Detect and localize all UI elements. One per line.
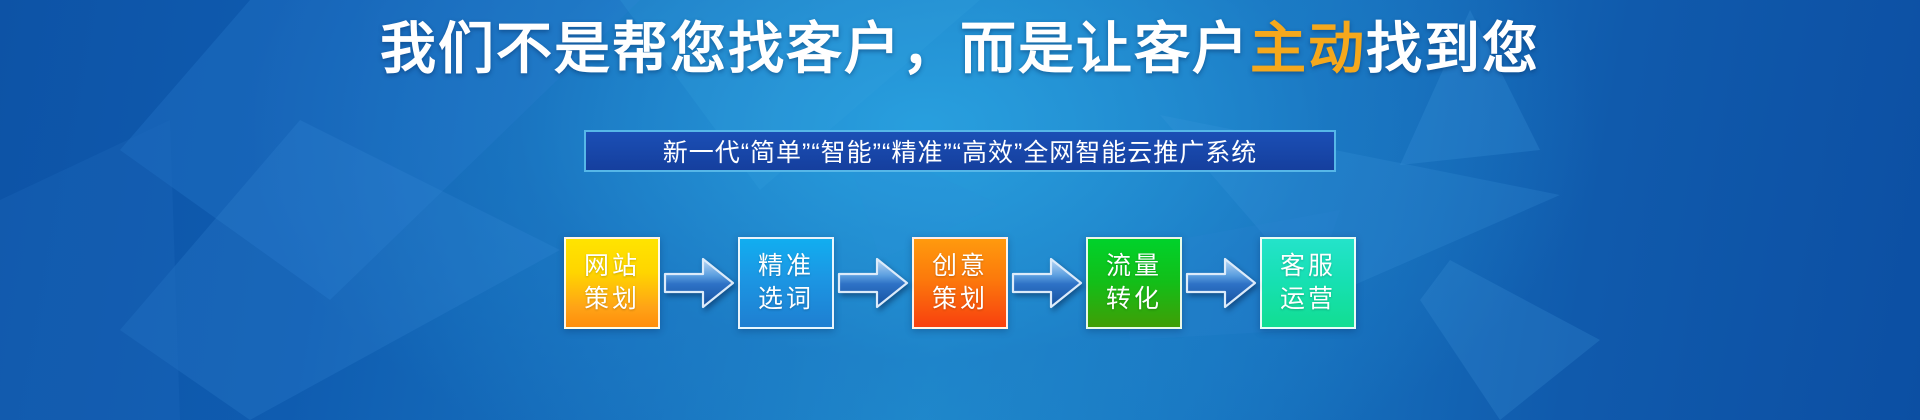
polygon-shape <box>1420 260 1600 420</box>
right-arrow-icon <box>1182 237 1260 329</box>
headline-part-before: 我们不是帮您找客户，而是让客户 <box>380 17 1250 80</box>
headline-highlight: 主动 <box>1250 17 1366 80</box>
flow-step-label-line1: 网站 <box>584 250 640 283</box>
flow-step-customer-service-operation[interactable]: 客服 运营 <box>1260 237 1356 329</box>
flow-step-label-line2: 策划 <box>932 283 988 316</box>
process-flow: 网站 策划 精准 选词 <box>564 228 1356 338</box>
right-arrow-icon <box>834 237 912 329</box>
flow-step-label-line1: 创意 <box>932 250 988 283</box>
flow-step-traffic-conversion[interactable]: 流量 转化 <box>1086 237 1182 329</box>
flow-step-label-line2: 选词 <box>758 283 814 316</box>
headline-part-after: 找到您 <box>1366 17 1540 80</box>
page-title: 我们不是帮您找客户，而是让客户主动找到您 <box>0 18 1920 81</box>
flow-step-label-line1: 客服 <box>1280 250 1336 283</box>
flow-step-label-line2: 转化 <box>1106 283 1162 316</box>
flow-step-creative-planning[interactable]: 创意 策划 <box>912 237 1008 329</box>
polygon-shape <box>120 120 560 420</box>
flow-step-label-line1: 精准 <box>758 250 814 283</box>
flow-step-label-line2: 策划 <box>584 283 640 316</box>
flow-step-website-planning[interactable]: 网站 策划 <box>564 237 660 329</box>
right-arrow-icon <box>660 237 738 329</box>
flow-step-label-line2: 运营 <box>1280 283 1336 316</box>
flow-step-label-line1: 流量 <box>1106 250 1162 283</box>
subtitle-text: 新一代“简单”“智能”“精准”“高效”全网智能云推广系统 <box>663 133 1258 169</box>
promo-banner: 我们不是帮您找客户，而是让客户主动找到您 新一代“简单”“智能”“精准”“高效”… <box>0 0 1920 420</box>
polygon-shape <box>0 120 180 420</box>
subtitle-bar: 新一代“简单”“智能”“精准”“高效”全网智能云推广系统 <box>584 130 1336 172</box>
right-arrow-icon <box>1008 237 1086 329</box>
flow-step-precise-keywords[interactable]: 精准 选词 <box>738 237 834 329</box>
